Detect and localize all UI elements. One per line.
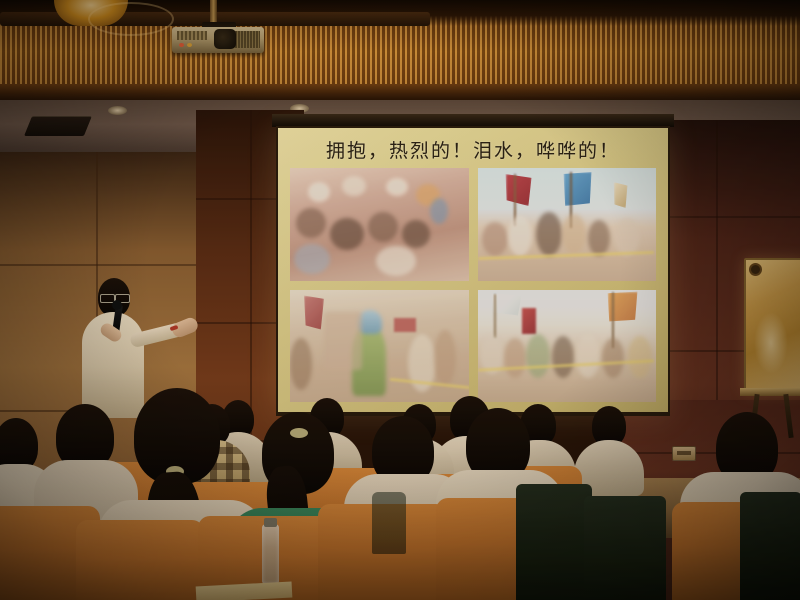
audience-person [582,406,638,492]
microphone-head-icon [112,300,122,310]
projector-vent-grille [234,31,260,48]
chair-back-dark[interactable] [584,496,666,600]
ceiling-downlight [108,106,127,115]
projector-body [172,27,264,53]
water-bottle[interactable] [262,524,279,584]
chair-back[interactable] [76,520,204,600]
ceiling-air-vent [24,116,92,136]
ceiling-projector [172,27,264,57]
projector-lens [214,29,236,49]
projection-screen: 拥抱，热烈的！泪水，哗哗的！ [276,126,670,416]
conference-hall-scene: 拥抱，热烈的！泪水，哗哗的！ [0,0,800,600]
projection-screen-frame: 拥抱，热烈的！泪水，哗哗的！ [276,126,670,416]
slide-photo-grid [290,168,656,402]
hair-tie [290,428,308,438]
slide-title: 拥抱，热烈的！泪水，哗哗的！ [278,136,668,163]
slide-photo-bottom-left [290,290,469,403]
flipchart-light-glare [754,312,788,374]
flipchart-clip-icon [749,263,762,276]
presentation-slide: 拥抱，热烈的！泪水，哗哗的！ [278,128,668,412]
projector-power-led-icon [179,43,184,47]
slide-photo-bottom-right [478,290,657,403]
projector-control-panel [177,31,207,40]
chair-back-dark[interactable] [516,484,592,600]
slide-photo-top-left [290,168,469,281]
flipchart-board [744,258,800,394]
projector-lamp-led-icon [187,43,192,47]
chair-back-dark[interactable] [372,492,406,554]
flipchart-whiteboard[interactable] [744,258,800,438]
water-bottle-cap [264,518,277,527]
ceiling-lamp-ring-icon [88,2,174,36]
chair-back-dark[interactable] [740,492,800,600]
flipchart-tray [740,388,800,396]
slide-photo-top-right [478,168,657,281]
